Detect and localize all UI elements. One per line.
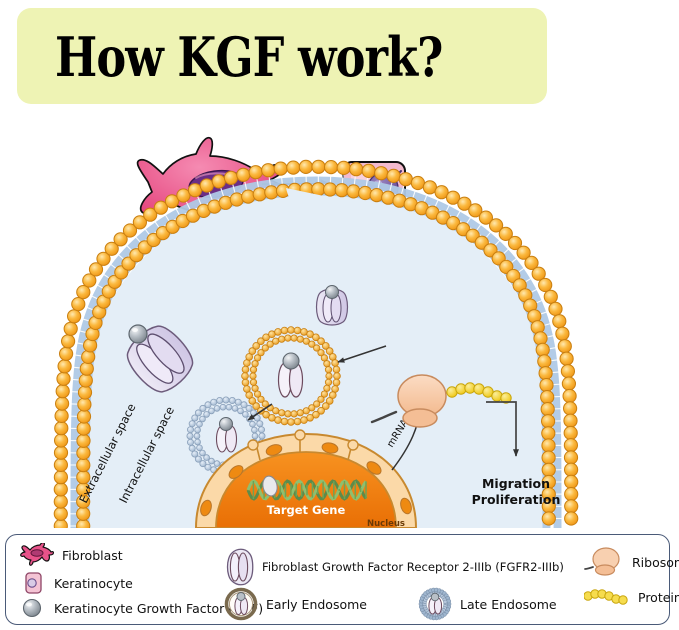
early-endosome-icon (224, 587, 258, 621)
legend-label: Ribosome (632, 555, 679, 570)
page-title: How KGF work? (55, 24, 497, 90)
legend-item-ribosome: Ribosome (584, 547, 679, 577)
label-nucleus: Nucleus (367, 519, 405, 528)
legend-label: Fibroblast (62, 548, 123, 563)
legend-item-keratinocyte: Keratinocyte (20, 571, 133, 595)
legend-item-protein: Protein (584, 587, 679, 607)
legend-item-early-endosome: Early Endosome (224, 587, 367, 621)
legend-panel: Fibroblast Keratinocyte Keratinocyte Gro… (5, 534, 670, 625)
label-target-gene: Target Gene (267, 503, 346, 517)
legend-item-late-endosome: Late Endosome (418, 587, 557, 621)
legend-label: Late Endosome (460, 597, 557, 612)
kgf-bound-to-receptor (129, 325, 147, 343)
late-endosome-icon (418, 587, 452, 621)
protein-chain-icon (584, 587, 630, 607)
fibroblast-icon (20, 543, 54, 567)
fgfr2-receptor-free (317, 286, 348, 326)
ribosome-icon (584, 547, 624, 577)
label-migration: Migration (482, 476, 550, 491)
legend-label: Protein (638, 590, 679, 605)
legend-item-fibroblast: Fibroblast (20, 543, 123, 567)
fgfr2-receptor-icon (224, 547, 254, 587)
legend-item-fgfr2: Fibroblast Growth Factor Receptor 2-IIIb… (224, 547, 564, 587)
legend-label: Fibroblast Growth Factor Receptor 2-IIIb… (262, 560, 564, 574)
figure-canvas: How KGF work? (0, 0, 679, 630)
keratinocyte-icon (20, 571, 46, 595)
legend-label: Keratinocyte (54, 576, 133, 591)
legend-label: Early Endosome (266, 597, 367, 612)
label-proliferation: Proliferation (472, 492, 561, 507)
kgf-sphere-icon (20, 597, 46, 619)
title-banner: How KGF work? (17, 8, 547, 104)
kgf-pathway-diagram: Extracellular space Intracellular space (0, 104, 679, 528)
